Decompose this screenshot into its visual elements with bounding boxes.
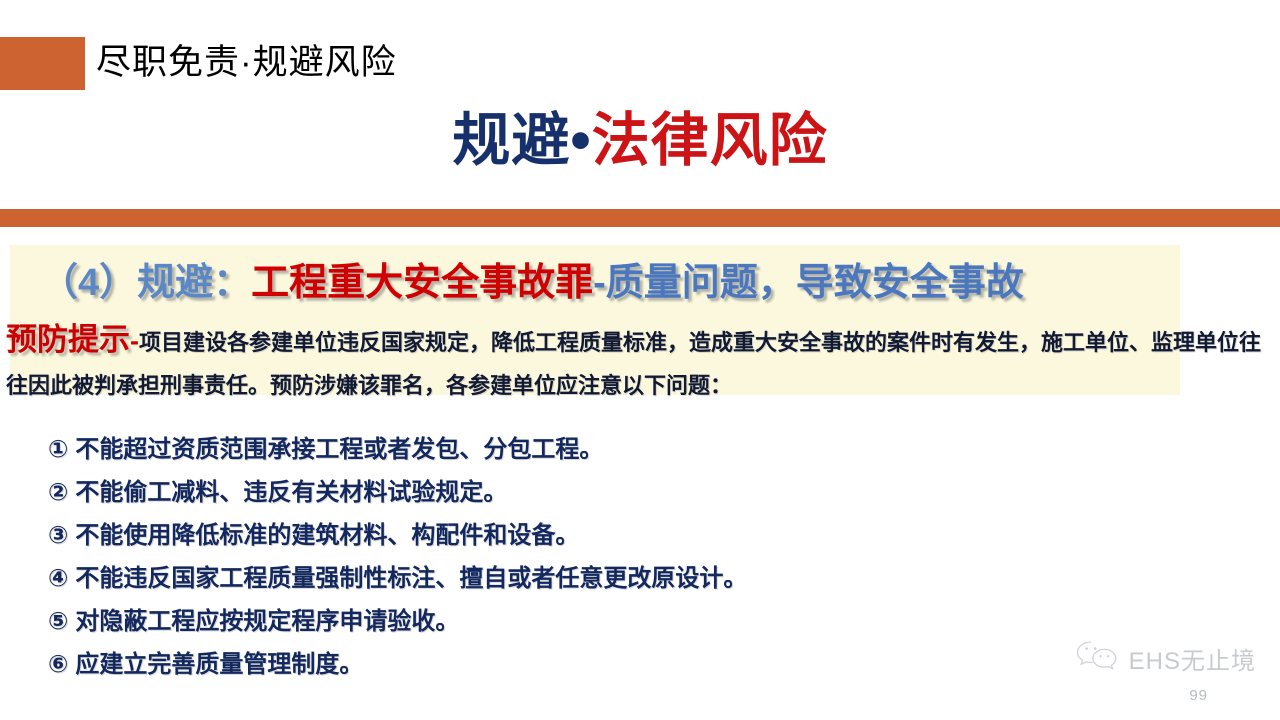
- section-heading-prefix: （4）规避：: [40, 262, 251, 304]
- list-item-label: 不能使用降低标准的建筑材料、构配件和设备。: [75, 522, 579, 549]
- prevention-dash: -: [130, 326, 139, 356]
- list-item-number: ④: [48, 565, 68, 592]
- list-item-label: 应建立完善质量管理制度。: [75, 651, 363, 678]
- list-item-label: 对隐蔽工程应按规定程序申请验收。: [75, 608, 459, 635]
- list-item: ⑤对隐蔽工程应按规定程序申请验收。: [48, 600, 1248, 643]
- prevention-list: ①不能超过资质范围承接工程或者发包、分包工程。 ②不能偷工减料、违反有关材料试验…: [48, 428, 1248, 686]
- list-item: ⑥应建立完善质量管理制度。: [48, 643, 1248, 686]
- section-heading: （4）规避：工程重大安全事故罪-质量问题，导致安全事故: [40, 255, 1024, 311]
- list-item-label: 不能违反国家工程质量强制性标注、擅自或者任意更改原设计。: [75, 565, 747, 592]
- section-heading-suffix: -质量问题，导致安全事故: [593, 262, 1024, 304]
- section-heading-crime: 工程重大安全事故罪: [251, 262, 593, 304]
- watermark: EHS无止境: [1074, 639, 1256, 678]
- list-item-number: ③: [48, 522, 68, 549]
- list-item: ④不能违反国家工程质量强制性标注、擅自或者任意更改原设计。: [48, 557, 1248, 600]
- prevention-paragraph: 预防提示-项目建设各参建单位违反国家规定，降低工程质量标准，造成重大安全事故的案…: [6, 318, 1274, 407]
- slide-root: 尽职免责·规避风险 规避•法律风险 （4）规避：工程重大安全事故罪-质量问题，导…: [0, 0, 1280, 720]
- list-item: ③不能使用降低标准的建筑材料、构配件和设备。: [48, 514, 1248, 557]
- slide-content: （4）规避：工程重大安全事故罪-质量问题，导致安全事故 预防提示-项目建设各参建…: [0, 0, 1280, 720]
- list-item-number: ⑤: [48, 608, 68, 635]
- list-item-label: 不能偷工减料、违反有关材料试验规定。: [75, 479, 507, 506]
- list-item-number: ②: [48, 479, 68, 506]
- prevention-tip-label: 预防提示: [6, 322, 130, 357]
- page-number: 99: [1189, 687, 1208, 704]
- watermark-label: EHS无止境: [1129, 641, 1256, 676]
- prevention-body-text: 项目建设各参建单位违反国家规定，降低工程质量标准，造成重大安全事故的案件时有发生…: [6, 330, 1261, 398]
- list-item: ②不能偷工减料、违反有关材料试验规定。: [48, 471, 1248, 514]
- list-item: ①不能超过资质范围承接工程或者发包、分包工程。: [48, 428, 1248, 471]
- wechat-icon: [1074, 639, 1120, 678]
- list-item-number: ⑥: [48, 651, 68, 678]
- list-item-number: ①: [48, 436, 68, 463]
- list-item-label: 不能超过资质范围承接工程或者发包、分包工程。: [75, 436, 603, 463]
